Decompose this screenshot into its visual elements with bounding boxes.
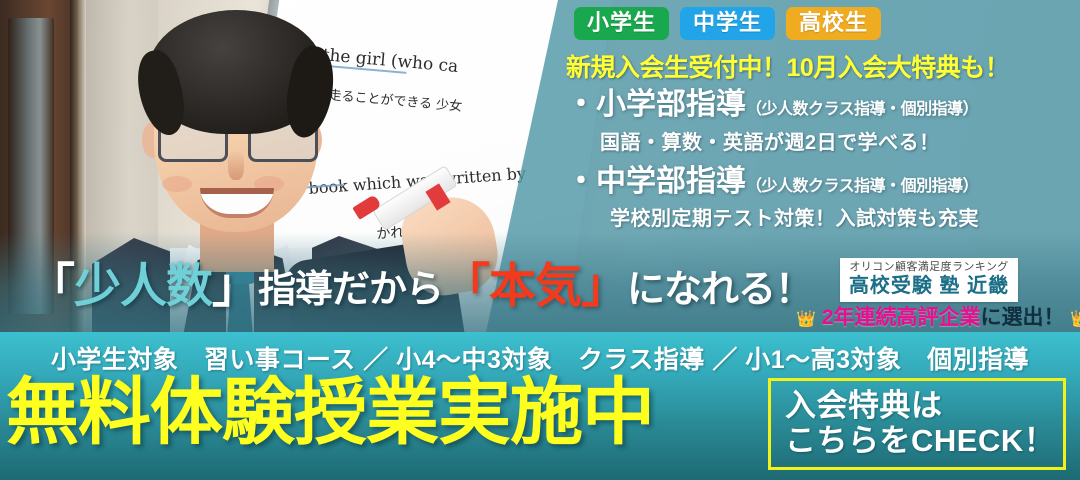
promo-headline: 新規入会生受付中！10月入会大特典も！	[566, 48, 1078, 84]
cta-button[interactable]: 入会特典は こちらをCHECK！	[768, 378, 1066, 470]
oricon-award: オリコン顧客満足度ランキング 高校受験 塾 近畿 👑 2年連続高評企業に選出！ …	[840, 258, 1018, 302]
cheek-left	[162, 176, 192, 192]
bottom-headline: 無料体験授業実施中	[6, 376, 766, 449]
tagline-keyword-honki: 本気	[489, 259, 581, 312]
award-selection-line: 👑 2年連続高評企業に選出！ 👑	[796, 306, 1064, 329]
course-note-text: 国語・算数・英語が週2日で学べる！	[600, 132, 940, 154]
course-bullet: ・	[566, 88, 596, 121]
bottom-bar: 小学生対象 習い事コース ／ 小4〜中3対象 クラス指導 ／ 小1〜高3対象 個…	[0, 332, 1080, 480]
cta-line-1: 入会特典は	[785, 389, 1063, 424]
award-ranking-line: オリコン顧客満足度ランキング	[847, 261, 1011, 274]
badge-junior-high[interactable]: 中学生	[680, 7, 775, 40]
course-subtitle: （少人数クラス指導・個別指導）	[746, 178, 978, 195]
tagline-tail: になれる！	[627, 269, 812, 311]
bracket-open-1: 「	[28, 259, 74, 312]
award-suffix: に選出！	[980, 306, 1064, 329]
bracket-open-2: 「	[443, 259, 489, 312]
course-block-junior-high: ・中学部指導（少人数クラス指導・個別指導） 学校別定期テスト対策！入試対策も充実	[566, 165, 1078, 232]
course-note-text: 学校別定期テスト対策！入試対策も充実	[610, 208, 979, 230]
course-block-elementary: ・小学部指導（少人数クラス指導・個別指導） 国語・算数・英語が週2日で学べる！	[566, 88, 1078, 155]
tagline-middle: 指導だから	[258, 269, 443, 311]
crown-icon: 👑	[1070, 311, 1080, 328]
course-subtitle: （少人数クラス指導・個別指導）	[746, 101, 978, 118]
course-note-elementary: 国語・算数・英語が週2日で学べる！	[600, 126, 940, 155]
promotional-banner: ⑨ the girl (who ca 速く走ることができる 少女 the boo…	[0, 0, 1080, 480]
crown-icon: 👑	[796, 311, 816, 328]
tagline-keyword-shoninzu: 少人数	[74, 259, 212, 312]
promo-copy: 新規入会生受付中！10月入会大特典も！ ・小学部指導（少人数クラス指導・個別指導…	[566, 48, 1078, 231]
award-highlight: 2年連続高評企業	[822, 306, 981, 329]
course-note-junior-high: 学校別定期テスト対策！入試対策も充実	[610, 202, 979, 231]
course-title-row: ・中学部指導（少人数クラス指導・個別指導）	[566, 165, 1078, 199]
badge-high-school[interactable]: 高校生	[786, 7, 881, 40]
award-category-line: 高校受験 塾 近畿	[847, 274, 1011, 298]
main-tagline: 「少人数」指導だから「本気」になれる！	[28, 262, 812, 309]
bracket-close-1: 」	[212, 259, 258, 312]
course-title: 小学部指導	[596, 88, 746, 121]
bracket-close-2: 」	[581, 259, 627, 312]
award-box: オリコン顧客満足度ランキング 高校受験 塾 近畿	[840, 258, 1018, 302]
course-bullet: ・	[566, 165, 596, 198]
course-title: 中学部指導	[596, 165, 746, 198]
badge-elementary[interactable]: 小学生	[574, 7, 669, 40]
course-title-row: ・小学部指導（少人数クラス指導・個別指導）	[566, 88, 1078, 122]
cta-line-2: こちらをCHECK！	[785, 424, 1063, 459]
audience-badges: 小学生 中学生 高校生	[574, 7, 881, 40]
bottom-courses-line: 小学生対象 習い事コース ／ 小4〜中3対象 クラス指導 ／ 小1〜高3対象 個…	[0, 340, 1080, 376]
